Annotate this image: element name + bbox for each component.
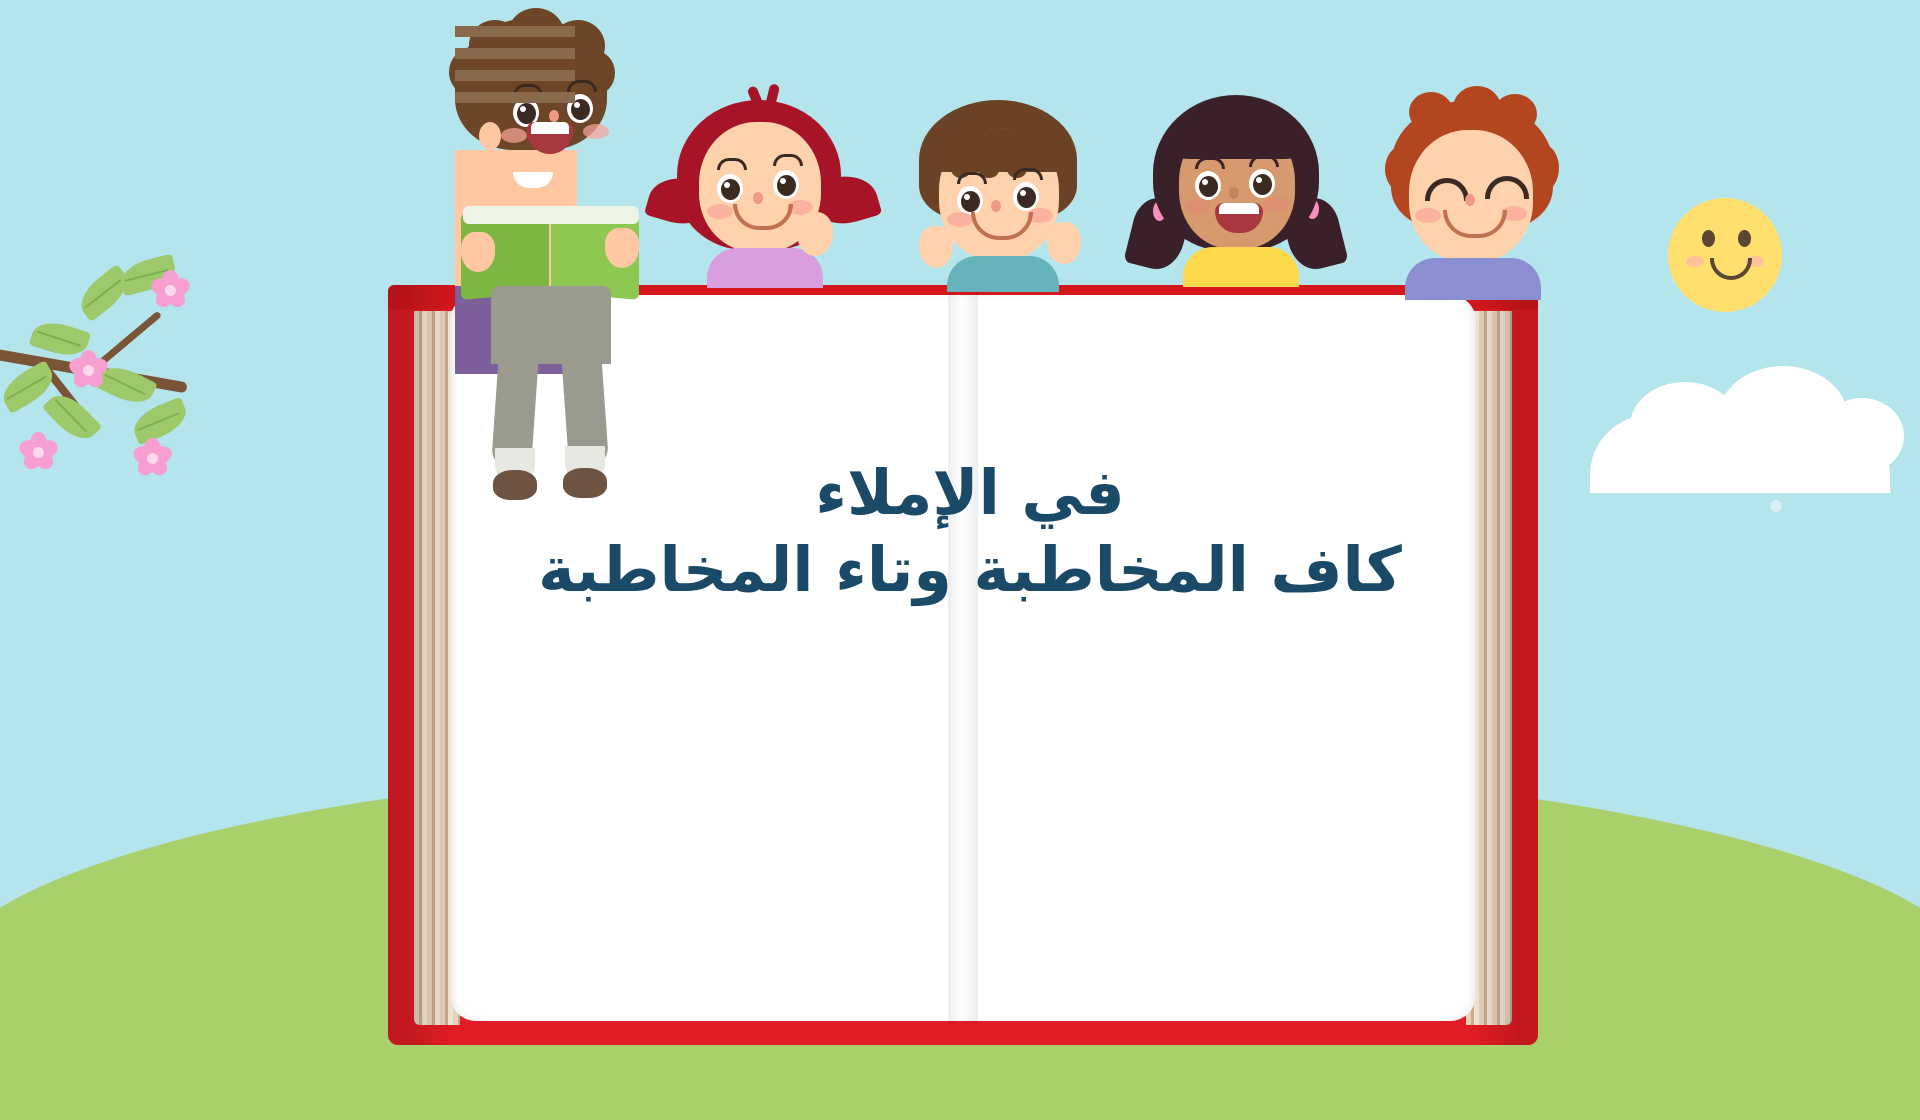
character-dark-hair-girl [1135,95,1335,285]
flower-branch-icon [0,250,260,520]
sun-icon [1640,170,1810,340]
character-red-hair-girl [655,100,870,280]
slide-canvas: في الإملاء كاف المخاطبة وتاء المخاطبة [0,0,1920,1080]
character-reading-boy [455,18,645,438]
slide-title: في الإملاء كاف المخاطبة وتاء المخاطبة [470,455,1470,609]
character-brown-hair-boy [905,100,1100,280]
title-line-1: في الإملاء [470,455,1470,532]
title-line-2: كاف المخاطبة وتاء المخاطبة [470,532,1470,609]
character-auburn-boy [1375,100,1575,285]
